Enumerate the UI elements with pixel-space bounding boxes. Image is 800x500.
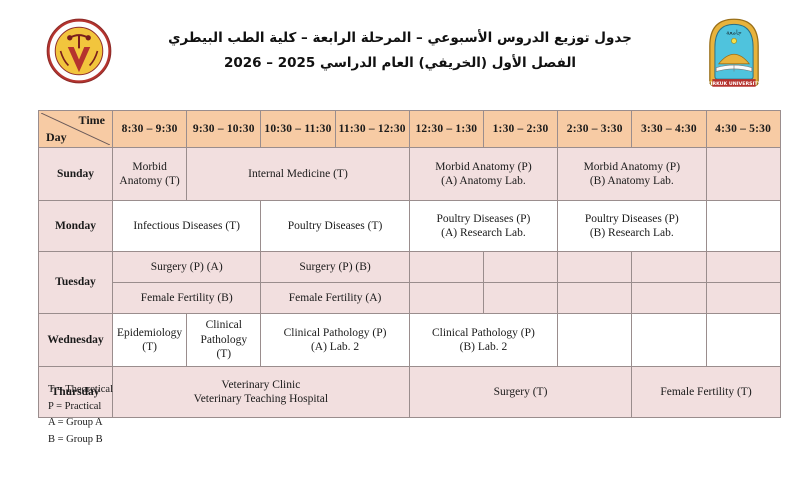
day-row-tuesday: TuesdaySurgery (P) (A)Surgery (P) (B) [39, 252, 781, 283]
empty-cell [706, 314, 780, 367]
session-cell: Poultry Diseases (P)(B) Research Lab. [558, 201, 706, 252]
session-cell: Female Fertility (T) [632, 367, 780, 418]
session-cell: Surgery (P) (B) [261, 252, 409, 283]
session-cell: Surgery (T) [409, 367, 632, 418]
empty-cell [558, 283, 632, 314]
time-slot-header-2: 9:30 – 10:30 [187, 111, 261, 148]
empty-cell [632, 314, 706, 367]
session-cell: Surgery (P) (A) [113, 252, 261, 283]
session-cell: Morbid Anatomy (P)(A) Anatomy Lab. [409, 148, 557, 201]
legend-item: P = Practical [48, 399, 113, 416]
weekly-schedule-table: TimeDay8:30 – 9:309:30 – 10:3010:30 – 11… [38, 110, 781, 418]
session-cell: Veterinary ClinicVeterinary Teaching Hos… [113, 367, 410, 418]
time-slot-header-9: 4:30 – 5:30 [706, 111, 780, 148]
empty-cell [632, 252, 706, 283]
empty-cell [409, 283, 483, 314]
day-row-sunday: SundayMorbid Anatomy (T)Internal Medicin… [39, 148, 781, 201]
empty-cell [706, 148, 780, 201]
legend-block: T = Theoretical P = Practical A = Group … [48, 382, 113, 448]
table-header-row: TimeDay8:30 – 9:309:30 – 10:3010:30 – 11… [39, 111, 781, 148]
university-crest-emblem-icon: جامعة KIRKUK UNIVERSITY [702, 18, 766, 88]
session-cell: Epidemiology(T) [113, 314, 187, 367]
page-title-line-2: الفصل الأول (الخريفي) العام الدراسي 2025… [150, 51, 650, 76]
page-title-line-1: جدول توزيع الدروس الأسبوعي – المرحلة الر… [150, 26, 650, 51]
legend-item: B = Group B [48, 432, 113, 449]
time-slot-header-3: 10:30 – 11:30 [261, 111, 335, 148]
session-cell: Morbid Anatomy (T) [113, 148, 187, 201]
corner-day-label: Day [46, 130, 67, 145]
session-cell: Clinical Pathology (P)(B) Lab. 2 [409, 314, 557, 367]
session-cell: Infectious Diseases (T) [113, 201, 261, 252]
day-label-sunday: Sunday [39, 148, 113, 201]
day-row-wednesday: WednesdayEpidemiology(T)ClinicalPatholog… [39, 314, 781, 367]
day-row-monday: MondayInfectious Diseases (T)Poultry Dis… [39, 201, 781, 252]
session-cell: Female Fertility (B) [113, 283, 261, 314]
empty-cell [706, 283, 780, 314]
time-slot-header-6: 1:30 – 2:30 [483, 111, 557, 148]
corner-time-label: Time [79, 113, 105, 128]
empty-cell [706, 201, 780, 252]
session-cell: ClinicalPathology(T) [187, 314, 261, 367]
legend-item: A = Group A [48, 415, 113, 432]
session-cell: Poultry Diseases (T) [261, 201, 409, 252]
day-label-wednesday: Wednesday [39, 314, 113, 367]
time-slot-header-4: 11:30 – 12:30 [335, 111, 409, 148]
time-slot-header-5: 12:30 – 1:30 [409, 111, 483, 148]
title-block: جدول توزيع الدروس الأسبوعي – المرحلة الر… [150, 26, 650, 76]
empty-cell [409, 252, 483, 283]
session-cell: Clinical Pathology (P)(A) Lab. 2 [261, 314, 409, 367]
corner-day-time-cell: TimeDay [39, 111, 113, 148]
day-row-thursday: ThursdayVeterinary ClinicVeterinary Teac… [39, 367, 781, 418]
day-label-monday: Monday [39, 201, 113, 252]
session-cell: Morbid Anatomy (P)(B) Anatomy Lab. [558, 148, 706, 201]
svg-text:KIRKUK UNIVERSITY: KIRKUK UNIVERSITY [707, 81, 762, 87]
veterinary-faculty-emblem-icon [46, 18, 112, 84]
session-cell: Female Fertility (A) [261, 283, 409, 314]
empty-cell [706, 252, 780, 283]
empty-cell [558, 314, 632, 367]
legend-item: T = Theoretical [48, 382, 113, 399]
day-label-tuesday: Tuesday [39, 252, 113, 314]
session-cell: Poultry Diseases (P)(A) Research Lab. [409, 201, 557, 252]
empty-cell [483, 252, 557, 283]
page-header: جامعة KIRKUK UNIVERSITY جدول توزيع الدرو… [0, 0, 800, 96]
day-row-tuesday-second: Female Fertility (B)Female Fertility (A) [39, 283, 781, 314]
schedule-table-wrapper: TimeDay8:30 – 9:309:30 – 10:3010:30 – 11… [38, 110, 780, 418]
time-slot-header-7: 2:30 – 3:30 [558, 111, 632, 148]
empty-cell [558, 252, 632, 283]
empty-cell [632, 283, 706, 314]
session-cell: Internal Medicine (T) [187, 148, 410, 201]
svg-text:جامعة: جامعة [726, 30, 742, 37]
time-slot-header-1: 8:30 – 9:30 [113, 111, 187, 148]
time-slot-header-8: 3:30 – 4:30 [632, 111, 706, 148]
empty-cell [483, 283, 557, 314]
